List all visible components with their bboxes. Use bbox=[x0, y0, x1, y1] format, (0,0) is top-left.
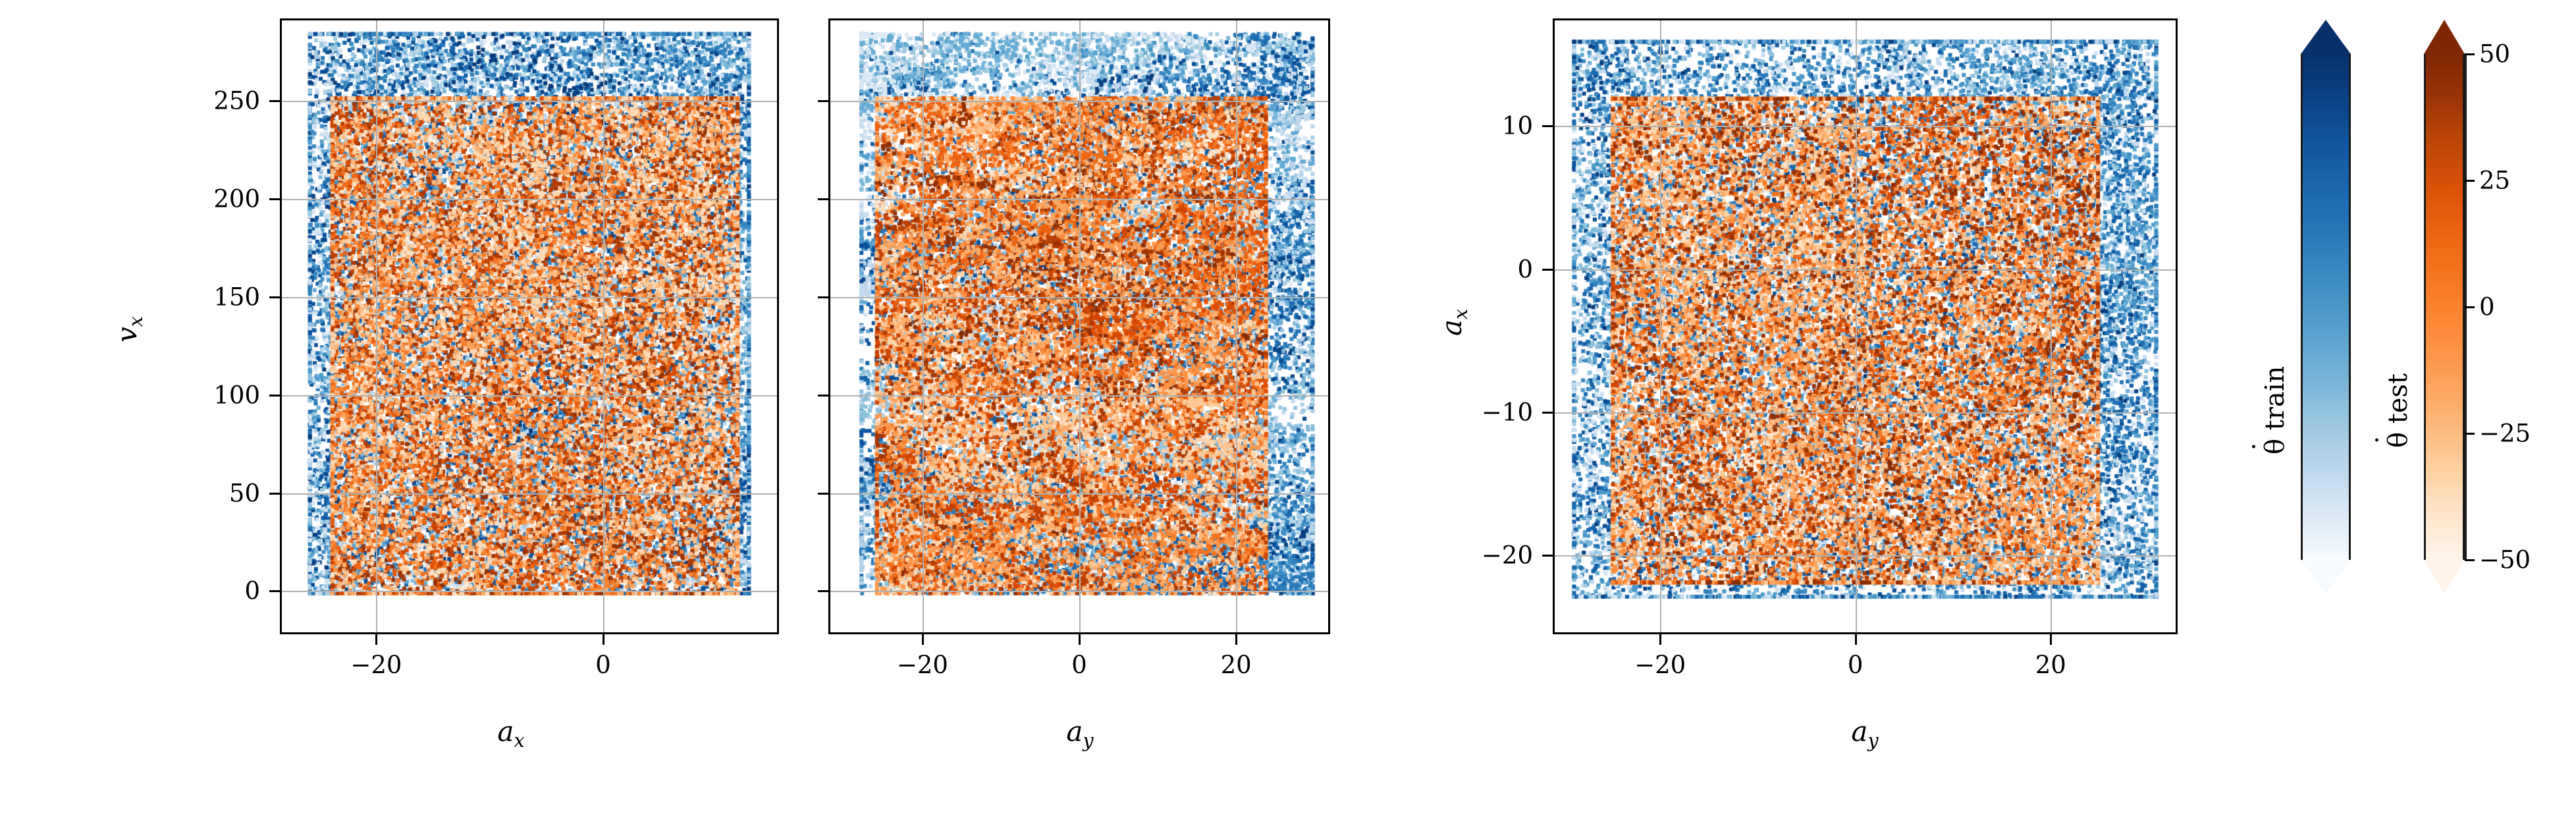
y-tick bbox=[269, 198, 280, 200]
gridline-horizontal bbox=[830, 395, 1328, 397]
x-tick-label: 0 bbox=[595, 653, 611, 677]
gridline-horizontal bbox=[1555, 555, 2176, 557]
y-tick bbox=[818, 493, 828, 495]
x-tick-label: 20 bbox=[2035, 653, 2066, 677]
figure-canvas: 050100150200250 −200 vx ax −20020 ay −20… bbox=[0, 0, 2576, 822]
gridline-vertical bbox=[1856, 20, 1857, 632]
y-tick-label: 100 bbox=[63, 383, 260, 407]
y-tick bbox=[818, 198, 828, 200]
theta-dot-symbol-train: θ bbox=[2260, 439, 2290, 454]
x-axis-label-panel-3: ay bbox=[1851, 715, 1878, 752]
x-tick-label: −20 bbox=[1634, 653, 1686, 677]
colorbar-test-tick bbox=[2465, 433, 2475, 435]
y-tick-label: 50 bbox=[63, 481, 260, 505]
gridline-horizontal bbox=[1555, 126, 2176, 127]
colorbar-test-tick bbox=[2465, 306, 2475, 308]
gridline-horizontal bbox=[830, 297, 1328, 298]
y-tick bbox=[818, 395, 828, 397]
theta-dot-symbol-test: θ bbox=[2383, 432, 2413, 448]
gridline-horizontal bbox=[282, 297, 777, 298]
x-tick-label: −20 bbox=[897, 653, 948, 677]
y-tick-label: 200 bbox=[63, 186, 260, 211]
colorbar-test-tick-label: 0 bbox=[2479, 295, 2495, 319]
colorbar-train-extend-top bbox=[2301, 20, 2351, 54]
x-axis-label-panel-2: ay bbox=[1066, 715, 1093, 752]
y-tick bbox=[269, 100, 280, 102]
gridline-horizontal bbox=[830, 101, 1328, 102]
scatter-canvas-panel-1 bbox=[282, 20, 777, 632]
x-tick-label: 20 bbox=[1221, 653, 1252, 677]
y-tick-label: 150 bbox=[63, 285, 260, 309]
gridline-vertical bbox=[603, 20, 604, 632]
colorbar-test-tick bbox=[2465, 53, 2475, 55]
gridline-horizontal bbox=[282, 199, 777, 200]
gridline-horizontal bbox=[282, 591, 777, 592]
y-tick bbox=[818, 100, 828, 102]
gridline-vertical bbox=[1079, 20, 1081, 632]
colorbar-train-title: θ train bbox=[2260, 366, 2290, 454]
gridline-vertical bbox=[2051, 20, 2052, 632]
gridline-horizontal bbox=[1555, 269, 2176, 271]
scatter-canvas-panel-3 bbox=[1555, 20, 2176, 632]
y-tick bbox=[269, 493, 280, 495]
colorbar-test-tick-label: −50 bbox=[2479, 548, 2531, 572]
y-tick-label: 250 bbox=[63, 89, 260, 113]
x-tick bbox=[2050, 634, 2052, 645]
gridline-horizontal bbox=[830, 199, 1328, 200]
x-tick bbox=[375, 634, 377, 645]
gridline-horizontal bbox=[282, 101, 777, 102]
y-tick bbox=[818, 590, 828, 592]
y-tick-label: 0 bbox=[1335, 257, 1533, 281]
y-tick bbox=[1542, 269, 1553, 271]
gridline-vertical bbox=[1236, 20, 1237, 632]
colorbar-test: θ test bbox=[2424, 20, 2467, 632]
y-tick bbox=[269, 590, 280, 592]
x-tick bbox=[1659, 634, 1661, 645]
y-tick-label: 10 bbox=[1335, 114, 1533, 138]
y-tick-label: −10 bbox=[1335, 400, 1533, 424]
colorbar-test-tick-label: −25 bbox=[2479, 422, 2531, 446]
scatter-panel-vx-vs-ax bbox=[280, 18, 779, 634]
scatter-panel-ax-vs-ay bbox=[1553, 18, 2178, 634]
colorbar-train-extend-bottom bbox=[2301, 560, 2351, 594]
gridline-vertical bbox=[376, 20, 377, 632]
x-tick bbox=[1855, 634, 1857, 645]
colorbar-test-tick bbox=[2465, 180, 2475, 182]
x-tick bbox=[1079, 634, 1081, 645]
gridline-vertical bbox=[1660, 20, 1661, 632]
y-tick bbox=[818, 296, 828, 298]
gridline-horizontal bbox=[282, 493, 777, 495]
y-tick-label: 0 bbox=[63, 579, 260, 603]
x-tick-label: 0 bbox=[1848, 653, 1864, 677]
y-tick bbox=[1542, 412, 1553, 414]
colorbar-test-tick-label: 25 bbox=[2479, 169, 2510, 193]
x-axis-label-panel-1: ax bbox=[497, 715, 524, 752]
colorbar-test-extend-bottom bbox=[2424, 560, 2465, 594]
scatter-panel-vx-vs-ay bbox=[828, 18, 1330, 634]
colorbar-test-tick bbox=[2465, 559, 2475, 561]
y-tick bbox=[1542, 555, 1553, 557]
gridline-horizontal bbox=[282, 395, 777, 397]
gridline-horizontal bbox=[830, 493, 1328, 495]
gridline-horizontal bbox=[830, 591, 1328, 592]
x-tick-label: −20 bbox=[350, 653, 402, 677]
x-tick-label: 0 bbox=[1071, 653, 1087, 677]
x-tick bbox=[603, 634, 604, 645]
colorbar-test-title: θ test bbox=[2383, 373, 2413, 448]
colorbar-test-gradient bbox=[2424, 54, 2465, 560]
y-tick bbox=[269, 296, 280, 298]
colorbar-train-title-text: train bbox=[2260, 366, 2290, 439]
colorbar-test-tick-label: 50 bbox=[2479, 42, 2510, 67]
gridline-horizontal bbox=[1555, 412, 2176, 414]
colorbar-train-gradient bbox=[2301, 54, 2351, 560]
y-tick bbox=[1542, 125, 1553, 127]
y-axis-label-panel-3: ax bbox=[1436, 309, 1472, 336]
colorbar-test-title-text: test bbox=[2383, 373, 2413, 432]
colorbar-train: θ train bbox=[2301, 20, 2353, 632]
y-axis-label-panel-1: vx bbox=[111, 316, 147, 342]
colorbar-test-extend-top bbox=[2424, 20, 2465, 54]
x-tick bbox=[1235, 634, 1237, 645]
y-tick-label: −20 bbox=[1335, 543, 1533, 568]
gridline-vertical bbox=[923, 20, 924, 632]
x-tick bbox=[922, 634, 924, 645]
y-tick bbox=[269, 395, 280, 397]
